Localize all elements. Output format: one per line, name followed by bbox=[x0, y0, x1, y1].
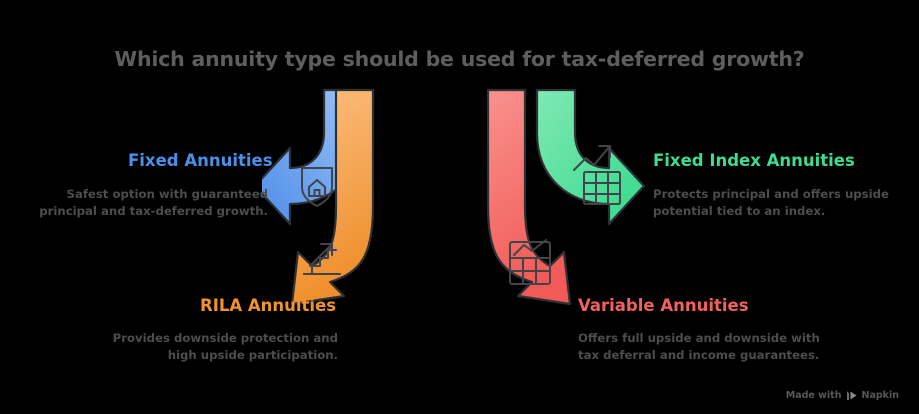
description-fixed-index-annuities: Protects principal and offers upside pot… bbox=[653, 186, 915, 219]
watermark-prefix: Made with bbox=[786, 390, 842, 401]
description-rila-annuities: Provides downside protection and high up… bbox=[80, 330, 338, 363]
watermark[interactable]: Made with Napkin bbox=[786, 390, 899, 401]
napkin-logo-icon bbox=[846, 390, 858, 401]
four-arrow-diagram bbox=[262, 86, 657, 326]
arrow-fixed-index-annuities[interactable] bbox=[537, 90, 644, 224]
description-fixed-annuities: Safest option with guaranteed principal … bbox=[10, 186, 268, 219]
label-fixed-annuities[interactable]: Fixed Annuities bbox=[128, 151, 273, 170]
label-fixed-index-annuities[interactable]: Fixed Index Annuities bbox=[653, 151, 855, 170]
infographic-canvas: Which annuity type should be used for ta… bbox=[0, 0, 919, 414]
description-variable-annuities: Offers full upside and downside with tax… bbox=[578, 330, 840, 363]
watermark-brand: Napkin bbox=[862, 390, 900, 401]
label-rila-annuities[interactable]: RILA Annuities bbox=[200, 296, 336, 315]
page-title: Which annuity type should be used for ta… bbox=[0, 47, 919, 71]
label-variable-annuities[interactable]: Variable Annuities bbox=[578, 296, 749, 315]
